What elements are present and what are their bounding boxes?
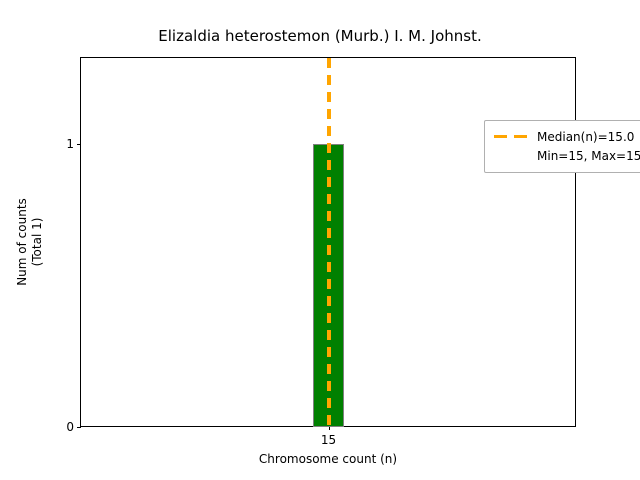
legend-label-minmax: Min=15, Max=15	[537, 149, 640, 163]
y-tick-mark	[77, 144, 81, 145]
legend-entry-minmax: Min=15, Max=15	[493, 146, 640, 165]
chart-figure: Elizaldia heterostemon (Murb.) I. M. Joh…	[0, 0, 640, 480]
y-tick-label: 0	[66, 420, 74, 434]
legend-entry-median: Median(n)=15.0	[493, 127, 640, 146]
y-axis-label-container: Num of counts (Total 1)	[0, 57, 60, 427]
median-line	[327, 58, 331, 427]
chart-title: Elizaldia heterostemon (Murb.) I. M. Joh…	[0, 27, 640, 45]
x-axis-label: Chromosome count (n)	[80, 452, 576, 466]
legend-label-median: Median(n)=15.0	[537, 130, 634, 144]
y-tick-mark	[77, 427, 81, 428]
legend: Median(n)=15.0 Min=15, Max=15	[484, 120, 640, 173]
x-tick-label: 15	[321, 433, 336, 447]
y-tick-label: 1	[66, 137, 74, 151]
y-axis-label: Num of counts (Total 1)	[15, 198, 45, 286]
dashed-line-icon	[493, 130, 529, 144]
plot-area: 0 1 15 Median(n)=15.0 Mi	[80, 57, 576, 427]
